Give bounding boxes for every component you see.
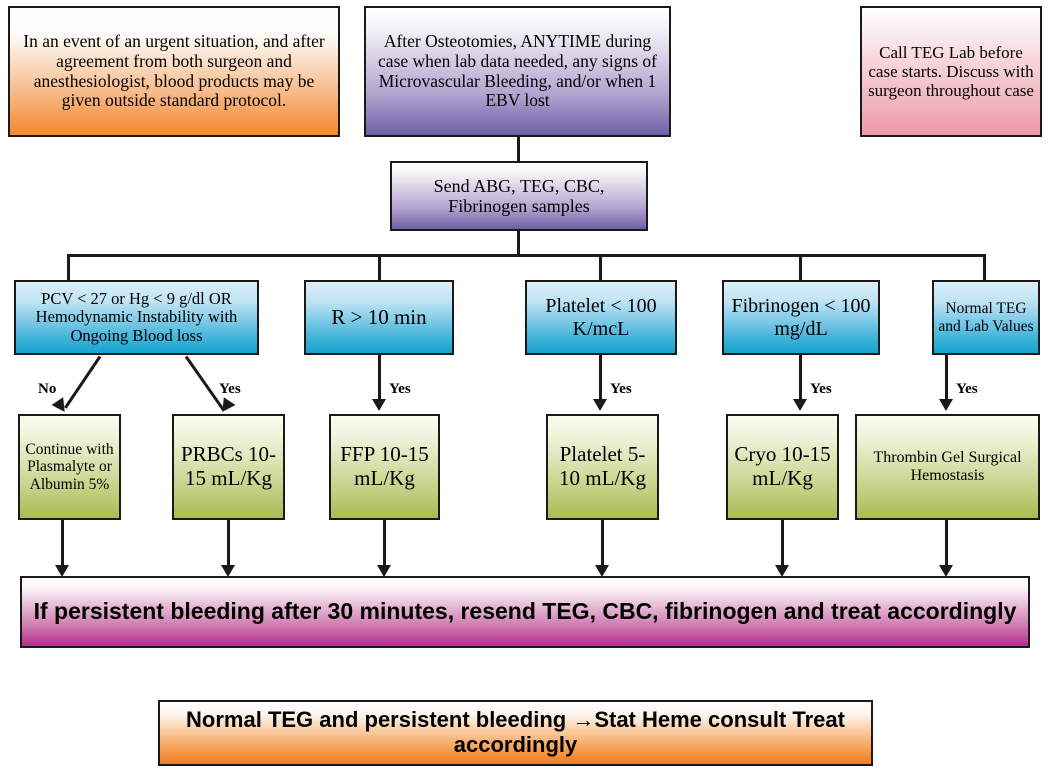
fibrinogen-level-text: Fibrinogen < 100 mg/dL <box>724 295 878 340</box>
flowchart-canvas: In an event of an urgent situation, and … <box>0 0 1050 771</box>
box-urgent-situation: In an event of an urgent situation, and … <box>8 6 340 137</box>
platelet-count-text: Platelet < 100 K/mcL <box>527 295 675 340</box>
platelet-text: Platelet 5-10 mL/Kg <box>548 443 657 490</box>
trigger-criteria-text: After Osteotomies, ANYTIME during case w… <box>366 32 669 110</box>
normal-teg-labs-text: Normal TEG and Lab Values <box>934 300 1038 335</box>
box-platelet-count: Platelet < 100 K/mcL <box>525 280 677 355</box>
heme-consult-text: Normal TEG and persistent bleeding →Stat… <box>160 708 871 757</box>
ffp-text: FFP 10-15 mL/Kg <box>331 443 438 490</box>
r-time-text: R > 10 min <box>327 306 430 330</box>
branch-arrow-yes-1-head <box>217 397 236 416</box>
bus-drop-3 <box>599 254 602 280</box>
yes-arrow-4-head <box>793 399 807 411</box>
box-prbcs: PRBCs 10-15 mL/Kg <box>172 414 285 520</box>
persistent-bleeding-text: If persistent bleeding after 30 minutes,… <box>30 599 1021 625</box>
box-crystalloid: Continue with Plasmalyte or Albumin 5% <box>18 414 121 520</box>
box-call-teg-lab: Call TEG Lab before case starts. Discuss… <box>860 6 1042 137</box>
yes-arrow-2-head <box>372 399 386 411</box>
box-platelet: Platelet 5-10 mL/Kg <box>546 414 659 520</box>
treat-arrow-5-line <box>781 520 784 568</box>
branch-label-no: No <box>38 381 56 398</box>
crystalloid-text: Continue with Plasmalyte or Albumin 5% <box>20 441 119 493</box>
yes-arrow-5-line <box>945 355 948 400</box>
branch-label-yes-1: Yes <box>219 381 241 398</box>
connector-send-to-bus <box>517 231 520 256</box>
yes-arrow-3-line <box>599 355 602 400</box>
bus-drop-5 <box>983 254 986 280</box>
treat-arrow-1-line <box>61 520 64 568</box>
branch-arrow-no <box>64 356 101 409</box>
connector-trigger-to-send <box>517 137 520 161</box>
treat-arrow-3-line <box>383 520 386 568</box>
yes-arrow-2-line <box>378 355 381 400</box>
bus-drop-4 <box>799 254 802 280</box>
box-ffp: FFP 10-15 mL/Kg <box>329 414 440 520</box>
box-cryo: Cryo 10-15 mL/Kg <box>726 414 839 520</box>
distribution-bus <box>67 254 986 257</box>
box-r-time: R > 10 min <box>304 280 454 355</box>
box-persistent-bleeding: If persistent bleeding after 30 minutes,… <box>20 576 1030 648</box>
pcv-hg-hemodynamic-text: PCV < 27 or Hg < 9 g/dl OR Hemodynamic I… <box>16 290 257 345</box>
box-normal-teg-labs: Normal TEG and Lab Values <box>932 280 1040 355</box>
treat-arrow-4-line <box>601 520 604 568</box>
box-trigger-criteria: After Osteotomies, ANYTIME during case w… <box>364 6 671 137</box>
bus-drop-1 <box>67 254 70 280</box>
yes-arrow-4-line <box>799 355 802 400</box>
box-send-samples: Send ABG, TEG, CBC, Fibrinogen samples <box>390 161 648 231</box>
branch-label-yes-4: Yes <box>810 381 832 398</box>
call-teg-lab-text: Call TEG Lab before case starts. Discuss… <box>862 43 1040 100</box>
box-thrombin-gel: Thrombin Gel Surgical Hemostasis <box>855 414 1040 520</box>
treat-arrow-6-line <box>945 520 948 568</box>
branch-label-yes-2: Yes <box>389 381 411 398</box>
send-samples-text: Send ABG, TEG, CBC, Fibrinogen samples <box>392 176 646 216</box>
bus-drop-2 <box>378 254 381 280</box>
box-heme-consult: Normal TEG and persistent bleeding →Stat… <box>158 700 873 766</box>
cryo-text: Cryo 10-15 mL/Kg <box>728 443 837 490</box>
treat-arrow-2-line <box>227 520 230 568</box>
yes-arrow-3-head <box>593 399 607 411</box>
branch-label-yes-5: Yes <box>956 381 978 398</box>
box-pcv-hg-hemodynamic: PCV < 27 or Hg < 9 g/dl OR Hemodynamic I… <box>14 280 259 355</box>
box-fibrinogen-level: Fibrinogen < 100 mg/dL <box>722 280 880 355</box>
urgent-situation-text: In an event of an urgent situation, and … <box>10 32 338 110</box>
yes-arrow-5-head <box>939 399 953 411</box>
thrombin-gel-text: Thrombin Gel Surgical Hemostasis <box>857 449 1038 485</box>
prbcs-text: PRBCs 10-15 mL/Kg <box>174 443 283 490</box>
branch-label-yes-3: Yes <box>610 381 632 398</box>
